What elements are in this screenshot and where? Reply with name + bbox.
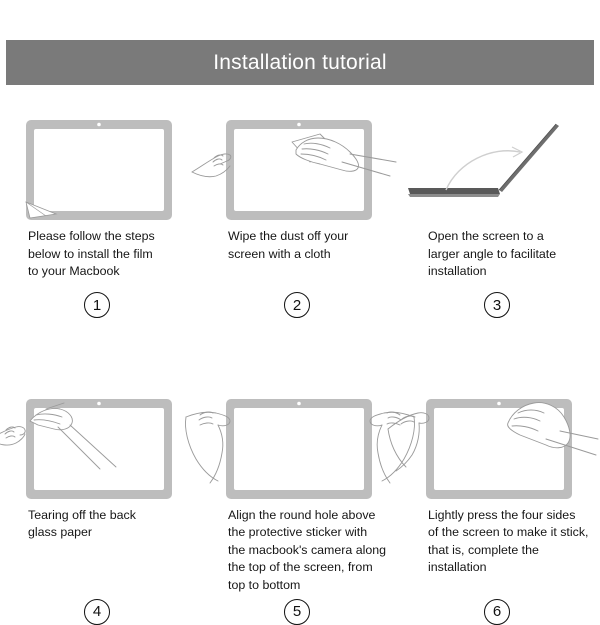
step-number-5: 5: [284, 599, 310, 625]
step-2-illustration: [200, 110, 400, 222]
step-number-1: 1: [84, 292, 110, 318]
step-2-caption: Wipe the dust off your screen with a clo…: [200, 228, 400, 263]
laptop-lid-icon: [499, 124, 559, 192]
laptop-base-icon: [408, 188, 500, 197]
screen-frame-icon: [226, 399, 372, 499]
step-5-caption: Align the round hole above the protectiv…: [200, 507, 400, 595]
step-3-caption: Open the screen to a larger angle to fac…: [400, 228, 600, 281]
step-card-6: Lightly press the four sides of the scre…: [400, 389, 600, 595]
step-1-caption: Please follow the steps below to install…: [0, 228, 200, 281]
step-row-bottom: Tearing off the back glass paper 4: [0, 389, 600, 595]
screen-frame-icon: [26, 120, 172, 220]
step-number-2: 2: [284, 292, 310, 318]
step-card-3: Open the screen to a larger angle to fac…: [400, 110, 600, 281]
step-card-2: Wipe the dust off your screen with a clo…: [200, 110, 400, 281]
left-hand-icon: [0, 426, 25, 444]
step-1-illustration: [0, 110, 200, 222]
step-4-caption: Tearing off the back glass paper: [0, 507, 200, 542]
step-number-3: 3: [484, 292, 510, 318]
step-5-illustration: [200, 389, 400, 501]
step-6-caption: Lightly press the four sides of the scre…: [400, 507, 600, 577]
step-3-illustration: [400, 110, 600, 222]
step-number-6: 6: [484, 599, 510, 625]
step-card-1: Please follow the steps below to install…: [0, 110, 200, 281]
step-card-5: Align the round hole above the protectiv…: [200, 389, 400, 595]
step-number-4: 4: [84, 599, 110, 625]
step-4-illustration: [0, 389, 200, 501]
open-angle-arrow-icon: [446, 147, 522, 190]
steps-grid: Please follow the steps below to install…: [0, 110, 600, 594]
header-bar: Installation tutorial: [6, 40, 594, 85]
page-title: Installation tutorial: [213, 52, 386, 73]
step-6-illustration: [400, 389, 600, 501]
step-card-4: Tearing off the back glass paper 4: [0, 389, 200, 595]
step-row-top: Please follow the steps below to install…: [0, 110, 600, 281]
